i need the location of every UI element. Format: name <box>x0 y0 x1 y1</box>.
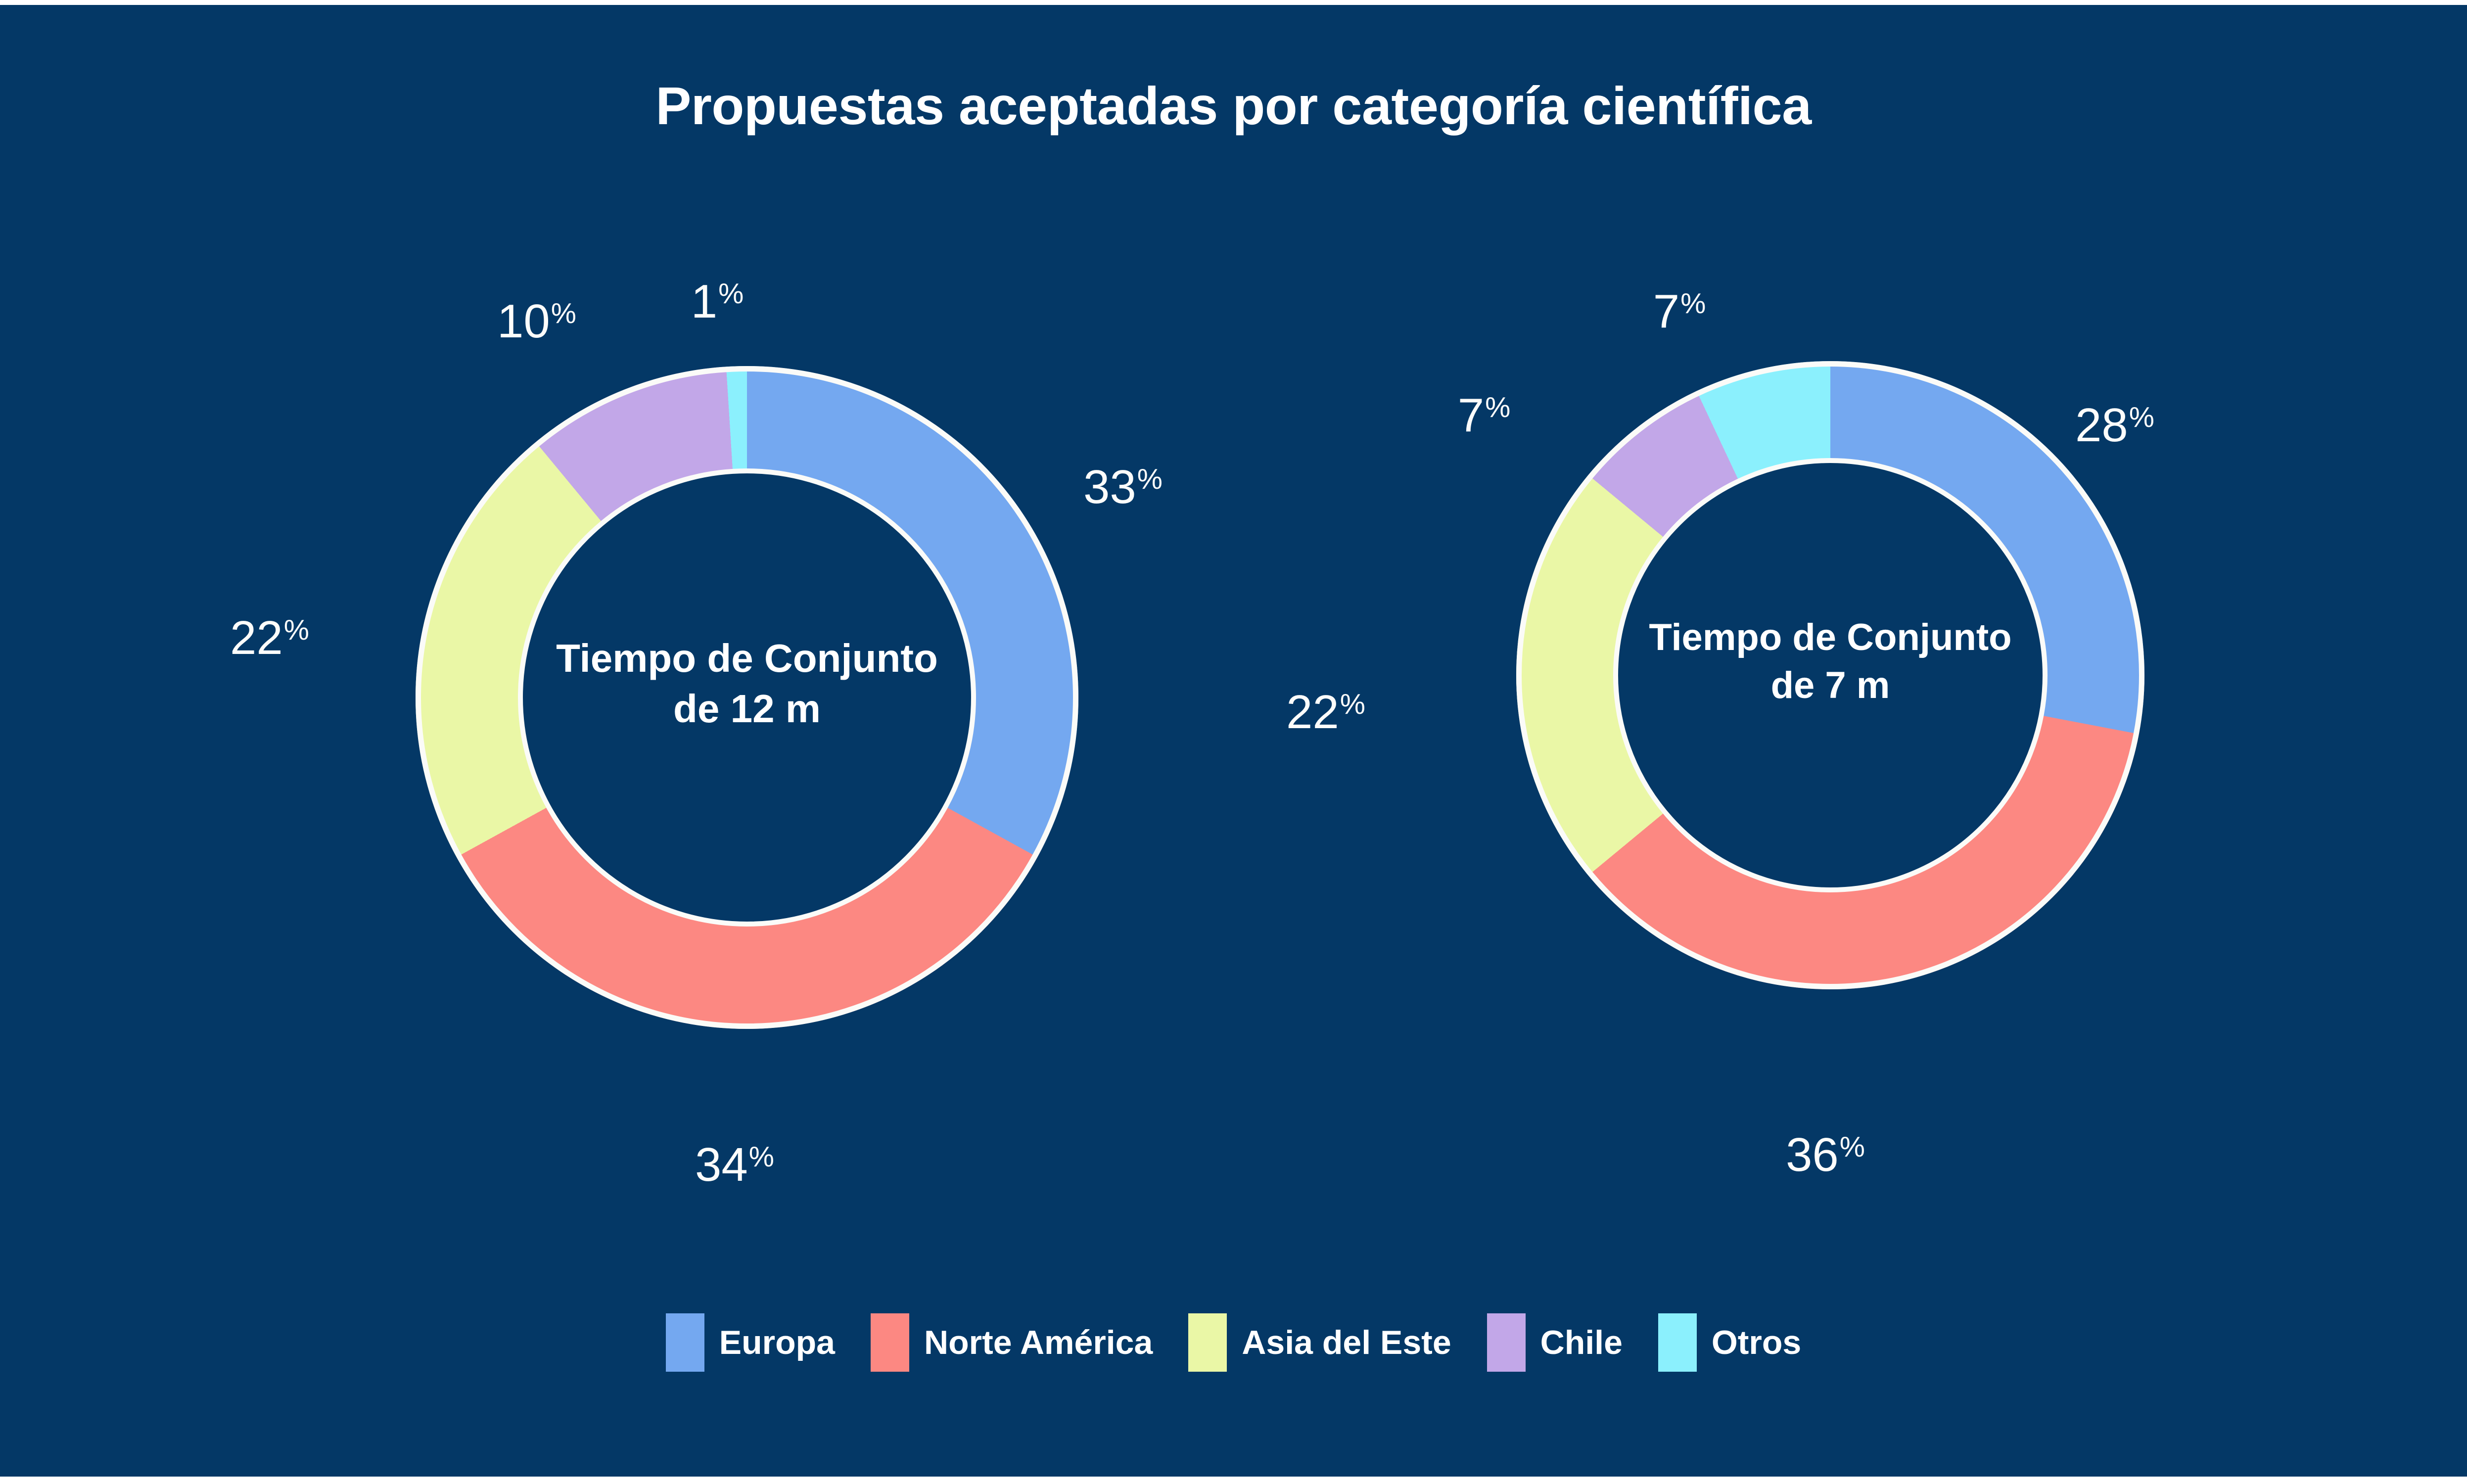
donut-center-label-7m: Tiempo de Conjunto de 7 m <box>1598 613 2063 710</box>
donut-chart-12m: Tiempo de Conjunto de 12 m <box>416 366 1078 1029</box>
percent-symbol: % <box>718 278 744 310</box>
percent-symbol: % <box>1485 392 1510 423</box>
percent-symbol: % <box>749 1141 774 1173</box>
pct-label-7m-norte-america: 36% <box>1786 1131 1865 1179</box>
page-title: Propuestas aceptadas por categoría cient… <box>0 77 2467 136</box>
legend-label: Asia del Este <box>1242 1323 1451 1362</box>
pct-label-12m-europa: 33% <box>1083 464 1163 511</box>
percent-symbol: % <box>551 298 576 329</box>
pct-label-12m-norte-america: 34% <box>695 1141 774 1189</box>
donut-center-label-12m-line2: de 12 m <box>505 684 989 734</box>
pct-label-12m-asia-del-este: 22% <box>230 614 309 662</box>
donut-center-label-7m-line1: Tiempo de Conjunto <box>1598 613 2063 661</box>
chart-legend: EuropaNorte AméricaAsia del EsteChileOtr… <box>0 1313 2467 1372</box>
percent-symbol: % <box>1137 464 1163 495</box>
pct-label-12m-chile: 10% <box>497 298 576 345</box>
percent-symbol: % <box>1680 288 1706 320</box>
percent-symbol: % <box>284 614 309 646</box>
donut-center-label-12m: Tiempo de Conjunto de 12 m <box>505 633 989 735</box>
pct-label-7m-chile: 7% <box>1458 392 1511 439</box>
pct-label-7m-asia-del-este: 22% <box>1286 689 1365 736</box>
legend-label: Otros <box>1712 1323 1801 1362</box>
legend-swatch-europa <box>666 1313 704 1372</box>
pct-label-7m-otros: 7% <box>1653 288 1706 335</box>
donut-center-label-7m-line2: de 7 m <box>1598 661 2063 709</box>
percent-symbol: % <box>1840 1131 1865 1163</box>
legend-item-otros[interactable]: Otros <box>1658 1313 1801 1372</box>
legend-item-chile[interactable]: Chile <box>1487 1313 1623 1372</box>
chart-canvas: Propuestas aceptadas por categoría cient… <box>0 0 2467 1484</box>
legend-label: Chile <box>1540 1323 1623 1362</box>
legend-swatch-norte-america <box>871 1313 909 1372</box>
donut-center-label-12m-line1: Tiempo de Conjunto <box>505 633 989 684</box>
legend-swatch-chile <box>1487 1313 1526 1372</box>
legend-label: Norte América <box>924 1323 1153 1362</box>
legend-swatch-otros <box>1658 1313 1697 1372</box>
percent-symbol: % <box>2129 402 2154 433</box>
pct-label-7m-europa: 28% <box>2075 402 2154 449</box>
pct-label-12m-otros: 1% <box>691 278 744 325</box>
legend-item-asia-del-este[interactable]: Asia del Este <box>1188 1313 1451 1372</box>
legend-item-europa[interactable]: Europa <box>666 1313 835 1372</box>
percent-symbol: % <box>1340 689 1365 720</box>
legend-swatch-asia-del-este <box>1188 1313 1227 1372</box>
legend-item-norte-am-rica[interactable]: Norte América <box>871 1313 1153 1372</box>
donut-chart-7m: Tiempo de Conjunto de 7 m <box>1516 361 2144 989</box>
legend-label: Europa <box>719 1323 835 1362</box>
